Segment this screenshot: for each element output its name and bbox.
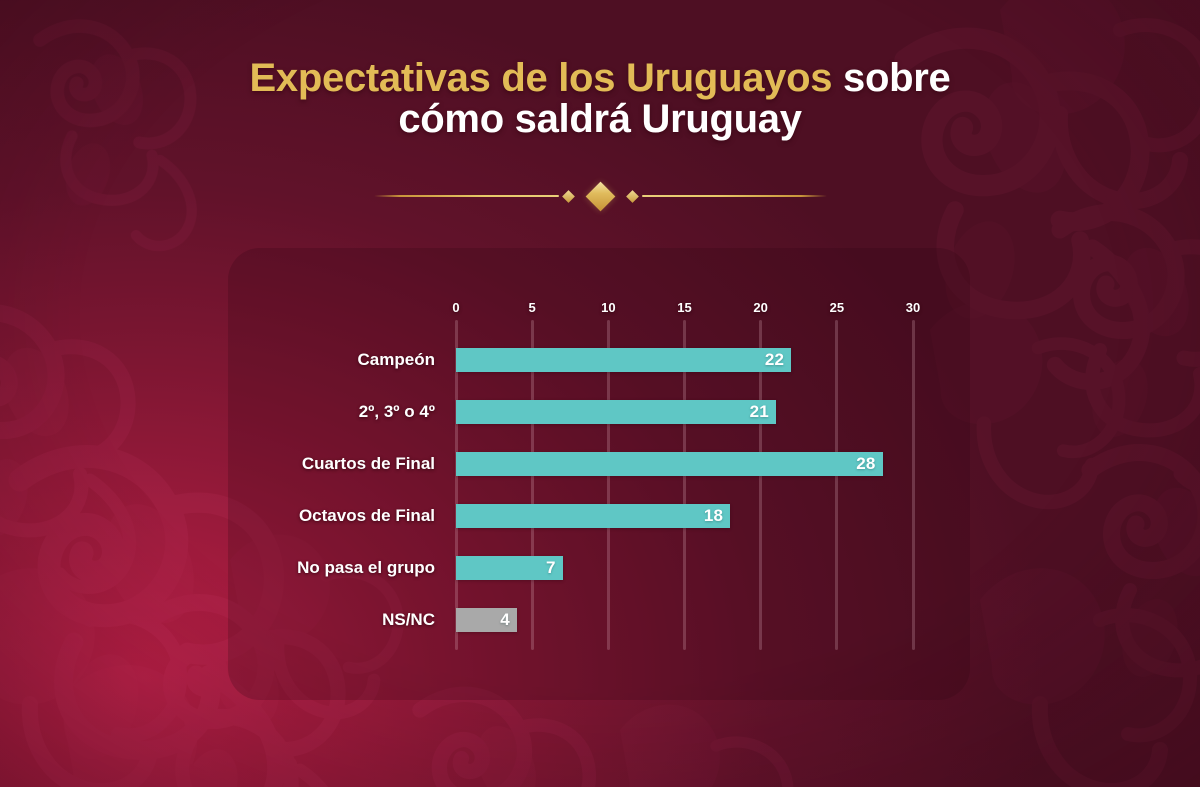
bar[interactable]: 18 <box>456 504 730 528</box>
chart-panel: 051015202530 Campeón222º, 3º o 4º21Cuart… <box>228 248 970 700</box>
diamond-small-right-icon <box>626 190 639 203</box>
bar[interactable]: 21 <box>456 400 776 424</box>
bar[interactable]: 7 <box>456 556 563 580</box>
category-label: Campeón <box>358 350 435 370</box>
diamond-small-left-icon <box>562 190 575 203</box>
title-line-2: cómo saldrá Uruguay <box>0 99 1200 140</box>
title-highlight: Expectativas de los Uruguayos <box>250 56 833 100</box>
page-title: Expectativas de los Uruguayos sobre cómo… <box>0 58 1200 140</box>
bar[interactable]: 28 <box>456 452 883 476</box>
bar-row: Octavos de Final18 <box>228 490 970 542</box>
bar-row: Campeón22 <box>228 334 970 386</box>
chart-bars: Campeón222º, 3º o 4º21Cuartos de Final28… <box>228 248 970 700</box>
bar[interactable]: 4 <box>456 608 517 632</box>
bar-row: No pasa el grupo7 <box>228 542 970 594</box>
bar[interactable]: 22 <box>456 348 791 372</box>
ornamental-divider <box>340 181 860 211</box>
bar-value-label: 28 <box>856 454 882 474</box>
bar-row: Cuartos de Final28 <box>228 438 970 490</box>
bar-row: NS/NC4 <box>228 594 970 646</box>
bar-value-label: 7 <box>546 558 563 578</box>
divider-rule-left <box>374 195 559 197</box>
title-line-1-tail: sobre <box>832 56 950 100</box>
bar-value-label: 4 <box>500 610 517 630</box>
category-label: 2º, 3º o 4º <box>359 402 435 422</box>
bar-value-label: 18 <box>704 506 730 526</box>
title-line-1: Expectativas de los Uruguayos sobre <box>0 58 1200 99</box>
bar-row: 2º, 3º o 4º21 <box>228 386 970 438</box>
bar-value-label: 22 <box>765 350 791 370</box>
diamond-large-center-icon <box>585 181 615 211</box>
category-label: Octavos de Final <box>299 506 435 526</box>
bar-value-label: 21 <box>750 402 776 422</box>
category-label: Cuartos de Final <box>302 454 435 474</box>
divider-rule-right <box>642 195 827 197</box>
category-label: No pasa el grupo <box>297 558 435 578</box>
category-label: NS/NC <box>382 610 435 630</box>
bar-chart: 051015202530 Campeón222º, 3º o 4º21Cuart… <box>228 248 970 700</box>
